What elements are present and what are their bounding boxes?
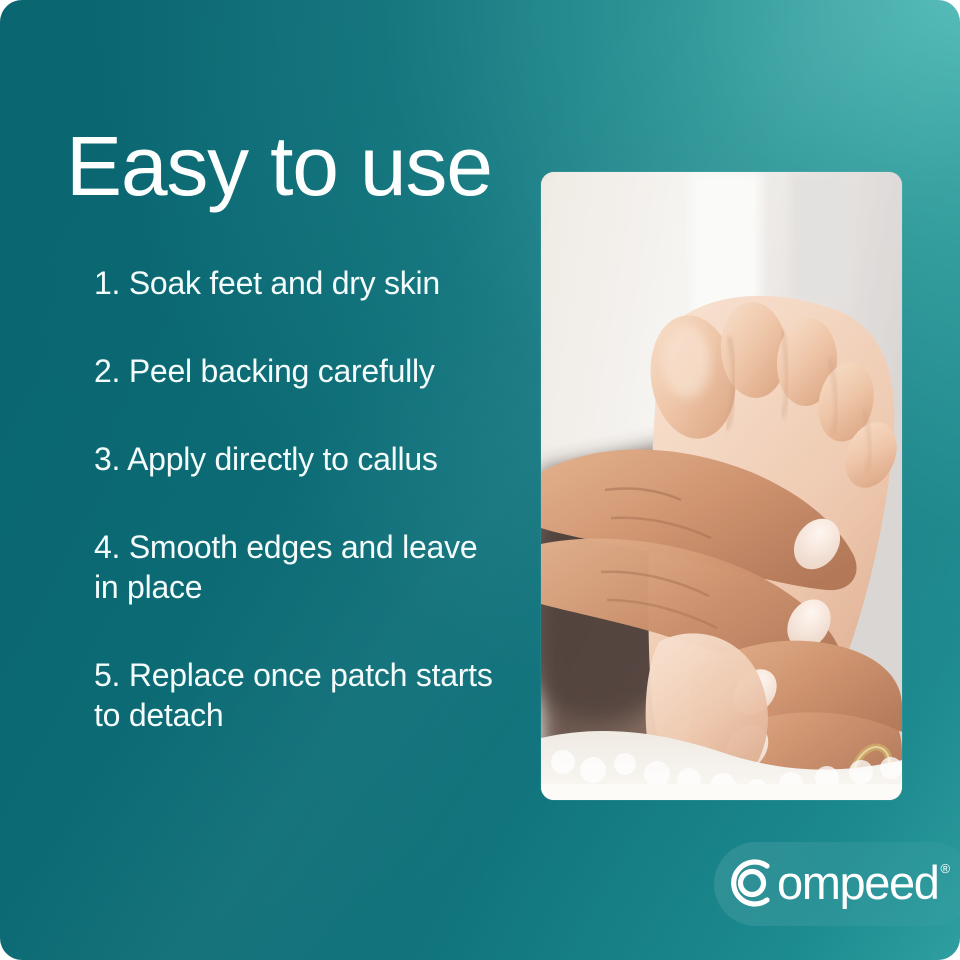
poster-canvas: Easy to use 1. Soak feet and dry skin 2.… (0, 0, 960, 960)
page-title: Easy to use (66, 119, 492, 213)
brand-wordmark: ompeed (777, 855, 938, 911)
list-item: 4. Smooth edges and leave in place (94, 527, 504, 607)
brand-logo: ompeed ® (722, 855, 950, 911)
list-item: 5. Replace once patch starts to detach (94, 655, 504, 735)
instruction-steps-list: 1. Soak feet and dry skin 2. Peel backin… (94, 263, 514, 735)
list-item: 2. Peel backing carefully (94, 351, 514, 391)
compeed-c-ring-monogram-icon (722, 855, 776, 916)
registered-trademark-icon: ® (940, 862, 950, 875)
foot-care-photo (541, 172, 902, 800)
list-item: 3. Apply directly to callus (94, 439, 514, 479)
list-item: 1. Soak feet and dry skin (94, 263, 514, 303)
